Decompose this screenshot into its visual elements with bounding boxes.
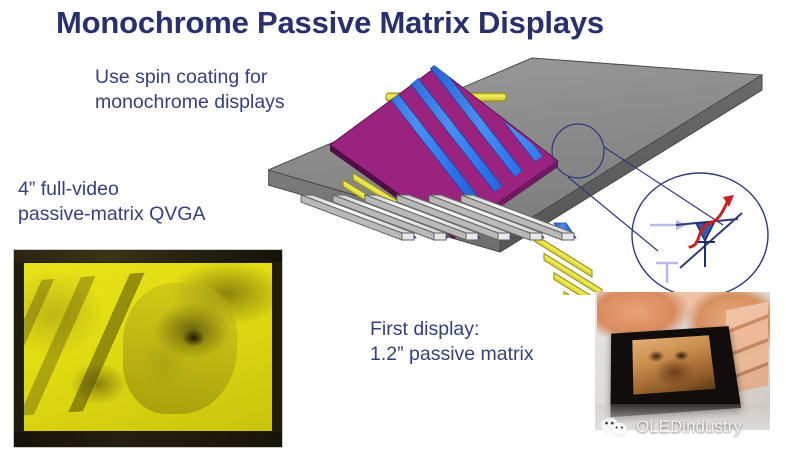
led-diode-symbol bbox=[695, 223, 715, 267]
photo-screen-area bbox=[24, 263, 272, 431]
annotation-qvga-caption: 4” full-video passive-matrix QVGA bbox=[18, 177, 205, 227]
photo-qvga-display bbox=[13, 249, 283, 448]
page-title: Monochrome Passive Matrix Displays bbox=[56, 2, 756, 44]
row-electrodes-yellow-right bbox=[534, 234, 642, 295]
callout-magnifier bbox=[632, 173, 768, 295]
annotation-spin-coating: Use spin coating for monochrome displays bbox=[95, 65, 285, 115]
slide-canvas: Monochrome Passive Matrix Displays Use s… bbox=[0, 0, 786, 470]
module-screen-image bbox=[632, 335, 715, 394]
passive-matrix-diagram bbox=[268, 55, 778, 295]
photo-surface-shadow bbox=[595, 404, 770, 430]
photo-bezel-top bbox=[14, 250, 282, 262]
annotation-first-display-caption: First display: 1.2” passive matrix bbox=[370, 317, 534, 367]
photo-first-display-module bbox=[595, 292, 770, 430]
photo-bezel-bottom bbox=[14, 432, 282, 447]
ground-symbol bbox=[656, 263, 678, 283]
